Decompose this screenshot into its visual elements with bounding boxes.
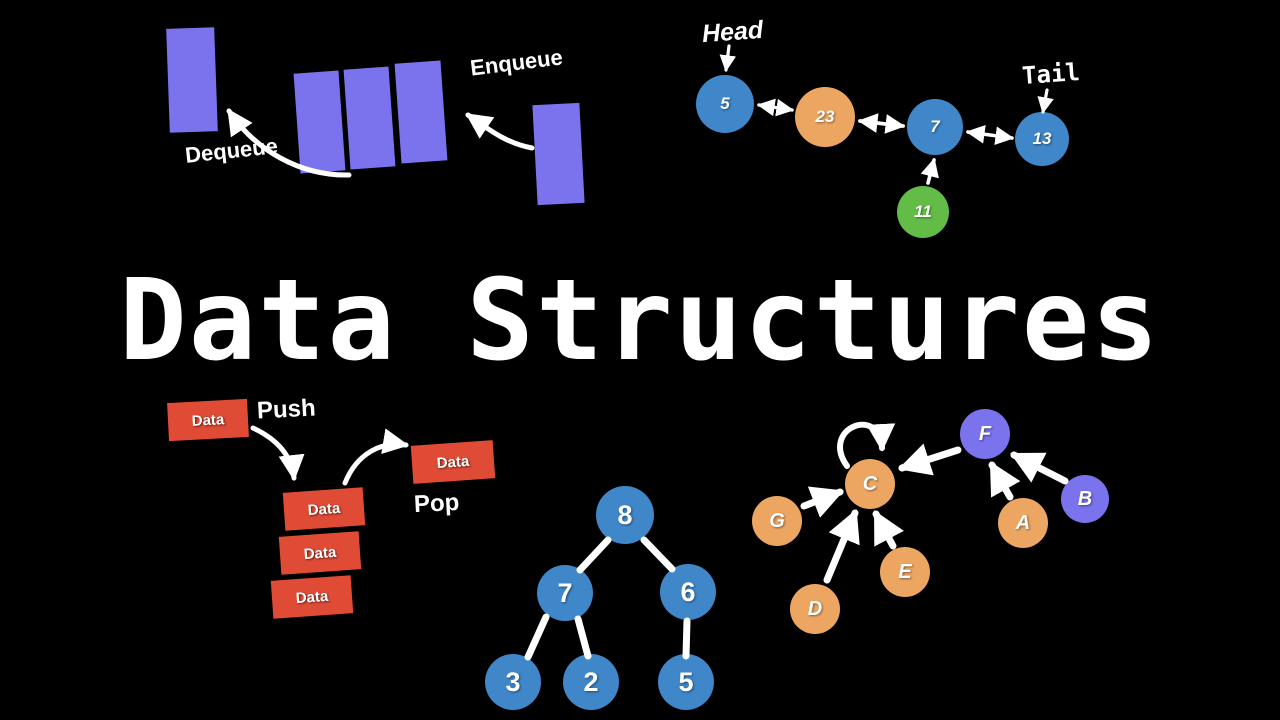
graph-edge-d-c (827, 513, 855, 580)
pop-arrow (345, 444, 406, 483)
push-arrow (253, 428, 294, 478)
connections-layer (0, 0, 1280, 720)
tree-edge-7-2 (578, 619, 588, 656)
ll-edge-7-13 (968, 132, 1012, 138)
graph-edge-b-f (1014, 455, 1065, 481)
graph-edge-f-c (902, 450, 958, 468)
ll-edge-23-7 (860, 121, 903, 126)
data-structures-poster: Enqueue Dequeue 5 23 7 13 11 Head Tail D… (0, 0, 1280, 720)
enqueue-arrow (468, 115, 532, 148)
tree-edge-7-3 (528, 617, 546, 657)
tail-pointer-arrow (1043, 90, 1047, 112)
graph-edge-c-self-loop (840, 425, 882, 466)
ll-edge-5-23 (759, 105, 792, 110)
head-pointer-arrow (726, 46, 729, 70)
tree-edge-8-6 (644, 540, 672, 569)
graph-edge-a-f (992, 465, 1010, 497)
tree-edge-6-5 (686, 621, 687, 656)
graph-edge-g-c (804, 492, 840, 506)
graph-edge-e-c (876, 514, 893, 546)
dequeue-arrow (229, 111, 349, 175)
ll-edge-11-7 (928, 160, 934, 183)
tree-edge-8-7 (580, 540, 608, 570)
